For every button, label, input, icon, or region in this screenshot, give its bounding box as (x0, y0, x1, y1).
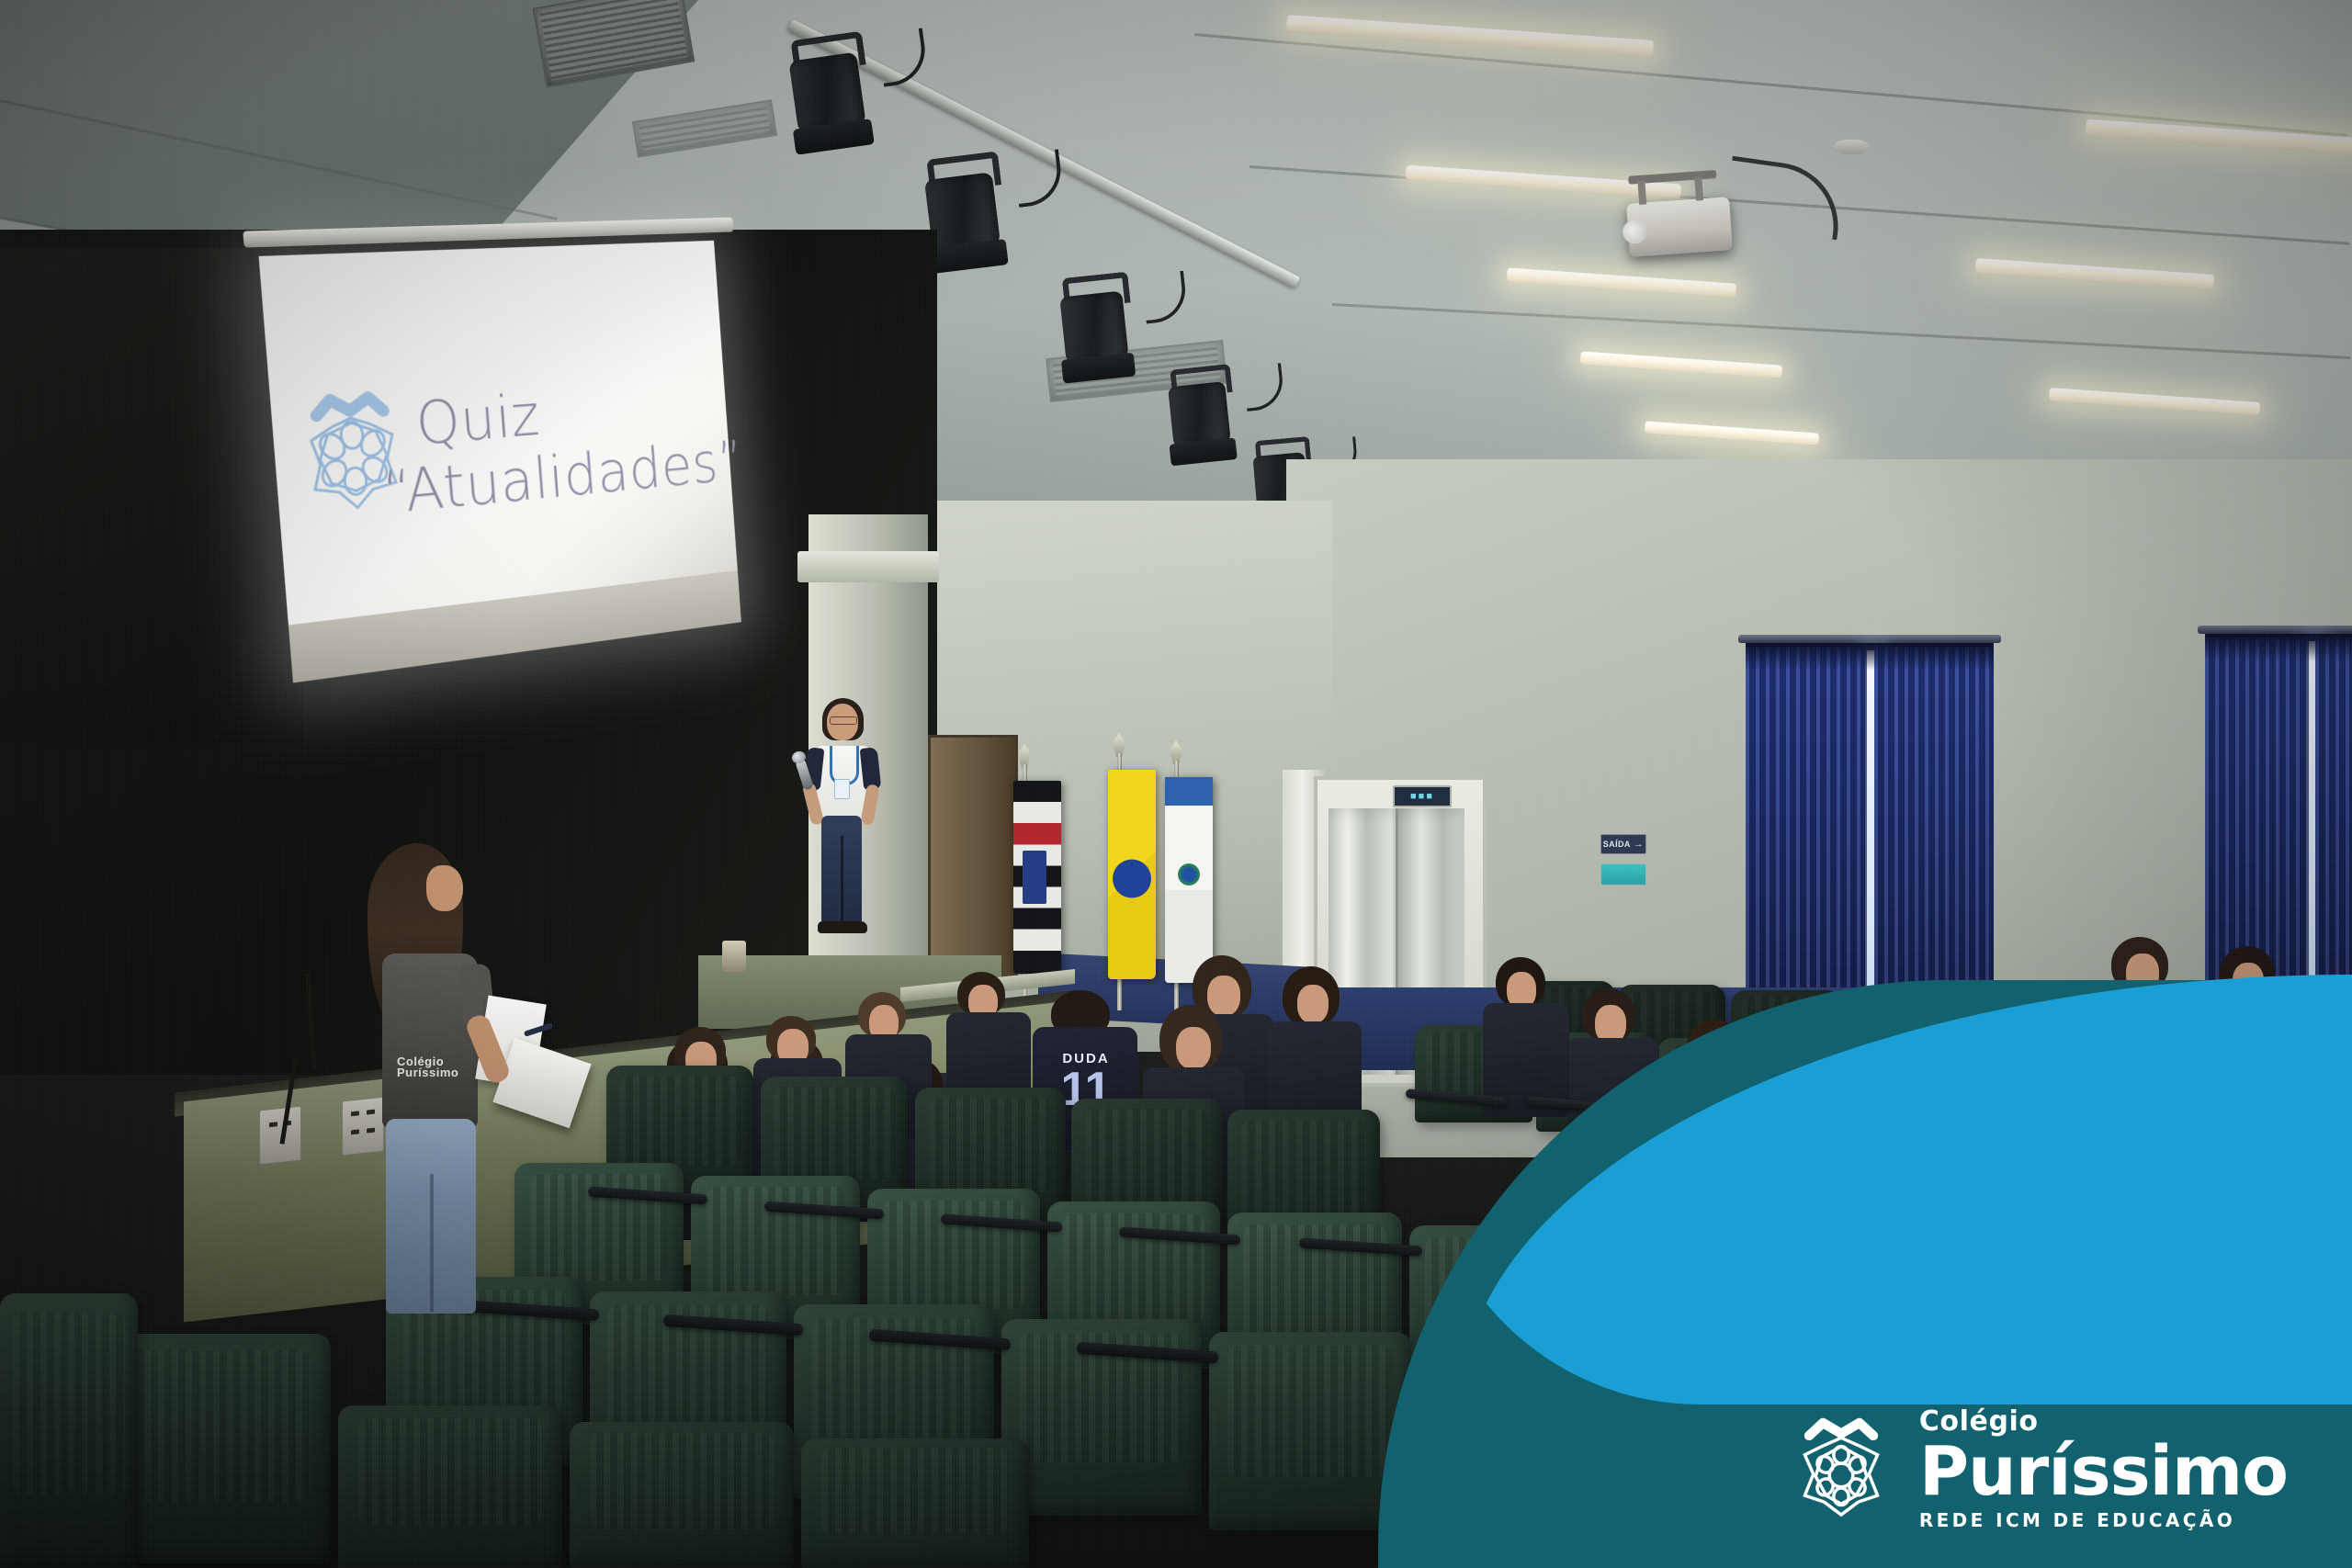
student (1483, 957, 1580, 1119)
elevator-indicator: ■■■ (1393, 785, 1452, 807)
smoke-detector (1833, 140, 1870, 154)
emergency-sign (1600, 863, 1646, 886)
curtain-panel[interactable] (2315, 637, 2352, 1001)
facilitator-face (426, 865, 463, 911)
facilitator-foreground: Colégio Puríssimo (366, 843, 595, 1339)
curtain-panel[interactable] (1874, 647, 1994, 1001)
projector-lens (1622, 220, 1647, 245)
exit-sign-label: SAÍDA (1603, 840, 1631, 849)
projection-screen: Quiz “Atualidades” (259, 241, 741, 683)
auditorium-seat[interactable] (0, 1293, 138, 1568)
student (1904, 1053, 2019, 1251)
auditorium-seat[interactable] (110, 1334, 331, 1563)
student (1773, 1036, 1887, 1225)
curtain-rod (2198, 626, 2352, 634)
presenter-on-stage (805, 698, 889, 937)
flag-cloth (1165, 777, 1213, 983)
flag-cloth (1013, 781, 1061, 974)
curtain-top-shadow (2205, 634, 2352, 661)
brazil-national-flag (1093, 753, 1145, 1010)
facilitator-shirt-logo: Colégio Puríssimo (397, 1056, 448, 1080)
window-left (1746, 643, 1994, 1001)
id-badge (834, 779, 850, 799)
purissimo-star-logo (287, 378, 418, 530)
exit-sign: SAÍDA → (1600, 834, 1646, 854)
auditorium-photo: Quiz “Atualidades” ■■■ SAÍDA → (0, 0, 2352, 1568)
flag-cloth (1108, 770, 1156, 979)
auditorium-seat[interactable] (801, 1438, 1029, 1568)
stage-object (722, 941, 746, 972)
auditorium-seat[interactable] (338, 1405, 562, 1568)
student (2141, 1034, 2260, 1218)
brand-tagline: REDE ICM DE EDUCAÇÃO (1919, 1511, 2288, 1529)
purissimo-star-mark (1787, 1410, 1895, 1528)
presenter-shoes (818, 921, 867, 933)
auditorium-seat[interactable] (1209, 1332, 1411, 1530)
auditorium-seat[interactable] (570, 1422, 794, 1568)
ceiling-projector (1626, 197, 1733, 257)
proscenium-capital (797, 551, 939, 582)
screen-surface: Quiz “Atualidades” (259, 241, 741, 683)
brand-name: Puríssimo (1919, 1438, 2288, 1506)
elevator-display-text: ■■■ (1410, 791, 1434, 802)
curtain-rod (1738, 635, 2001, 643)
glasses-icon (830, 716, 857, 725)
curtain-panel[interactable] (1746, 647, 1865, 1001)
student (1567, 988, 1672, 1163)
curtain-top-shadow (1746, 643, 1994, 671)
slide-subtitle: “Atualidades” (380, 432, 745, 524)
blackout-curtain-panel (0, 248, 303, 744)
arrow-right-icon: → (1634, 840, 1644, 850)
student (2027, 1029, 2144, 1222)
brand-logo-lockup: Colégio Puríssimo REDE ICM DE EDUCAÇÃO (1787, 1408, 2288, 1529)
